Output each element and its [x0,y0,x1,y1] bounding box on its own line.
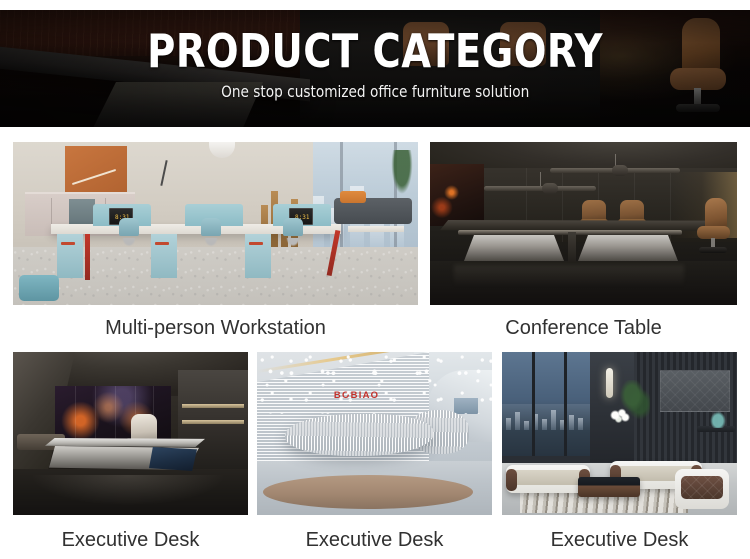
workstation-pedestal [57,234,83,278]
page-subtitle: One stop customized office furniture sol… [221,82,529,102]
category-image-conference-table[interactable] [430,142,737,305]
workstation-lounge-sofa [334,198,412,224]
conference-pendant-light [550,168,680,173]
category-card-executive-desk-1[interactable]: Executive Desk [13,352,248,555]
category-card-multi-person-workstation[interactable]: 8:31 8:31 Multi-person Workstation [13,142,418,343]
category-image-multi-person-workstation[interactable]: 8:31 8:31 [13,142,418,305]
lounge-wall-sconce [606,368,613,398]
workstation-task-chair [119,218,139,236]
lounge-coffee-table [578,477,640,497]
scene-conference [430,142,737,305]
category-label-executive-desk-3: Executive Desk [502,515,737,555]
category-label-executive-desk-2: Executive Desk [257,515,492,555]
executive-floor-glow [33,475,223,505]
workstation-foreground-chair [19,275,59,301]
lounge-armchair [675,469,729,509]
workstation-low-table [348,226,404,232]
category-image-executive-desk-2[interactable]: BOBIAO [257,352,492,515]
banner-text-block: PRODUCT CATEGORY One stop customized off… [0,10,750,127]
sculpt-desk-body [285,414,433,456]
page-banner: PRODUCT CATEGORY One stop customized off… [0,10,750,127]
conference-table-base [464,235,564,261]
conference-pendant-light [484,186,596,191]
category-image-executive-desk-3[interactable] [502,352,737,515]
scene-lounge [502,352,737,515]
category-card-executive-desk-2[interactable]: BOBIAO Executive Desk [257,352,492,555]
conference-art-wall [430,164,484,226]
category-image-executive-desk-1[interactable] [13,352,248,515]
category-label-multi-person-workstation: Multi-person Workstation [13,305,418,343]
workstation-task-chair [283,218,303,236]
workstation-wall-art [65,146,127,198]
lounge-window [502,352,590,456]
workstation-pedestal [151,234,177,278]
lounge-wall-panel [660,370,730,412]
workstation-plant [390,150,414,198]
workstation-task-chair [201,218,221,236]
scene-executive-sculpt: BOBIAO [257,352,492,515]
sculpt-falling-petals [257,352,492,414]
category-card-conference-table[interactable]: Conference Table [430,142,737,343]
conference-table-spine [568,232,576,262]
top-white-strip [0,0,750,10]
category-label-conference-table: Conference Table [430,305,737,343]
conference-floor-reflection [454,265,684,287]
scene-executive-cosmic [13,352,248,515]
lounge-city-skyline [502,404,590,430]
conference-side-chair [697,198,731,260]
page-title: PRODUCT CATEGORY [147,26,603,76]
sculpt-podium [263,475,473,509]
workstation-pedestal [245,234,271,278]
lounge-decor-vase [709,410,727,428]
category-card-executive-desk-3[interactable]: Executive Desk [502,352,737,555]
lounge-flower-arrangement [608,408,632,426]
conference-chair [620,200,644,224]
conference-table-base [578,235,678,261]
scene-workstation: 8:31 8:31 [13,142,418,305]
executive-desk [45,438,205,472]
category-label-executive-desk-1: Executive Desk [13,515,248,555]
product-category-page: PRODUCT CATEGORY One stop customized off… [0,0,750,559]
